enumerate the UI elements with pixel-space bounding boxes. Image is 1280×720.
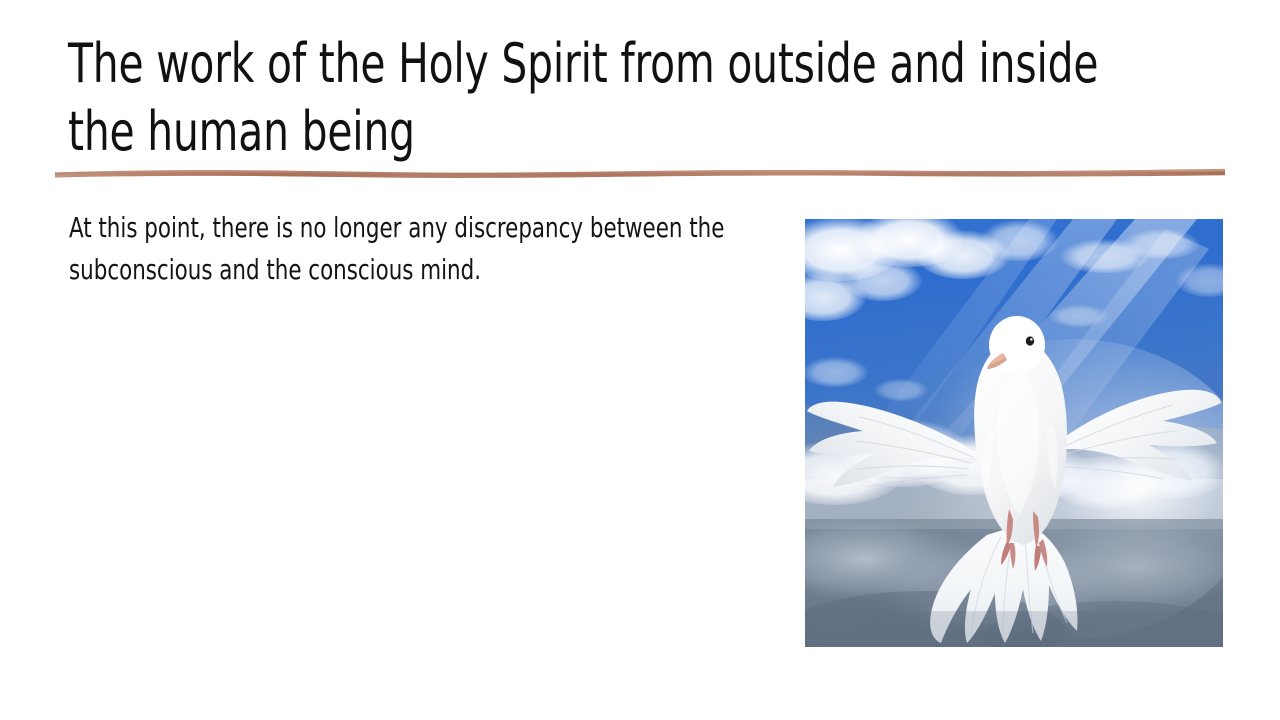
slide: The work of the Holy Spirit from outside… bbox=[0, 0, 1280, 720]
body-block: At this point, there is no longer any di… bbox=[69, 207, 799, 291]
body-paragraph: At this point, there is no longer any di… bbox=[69, 207, 800, 291]
title-block: The work of the Holy Spirit from outside… bbox=[68, 30, 1178, 166]
page-title: The work of the Holy Spirit from outside… bbox=[68, 30, 1177, 166]
dove-image bbox=[805, 219, 1223, 647]
